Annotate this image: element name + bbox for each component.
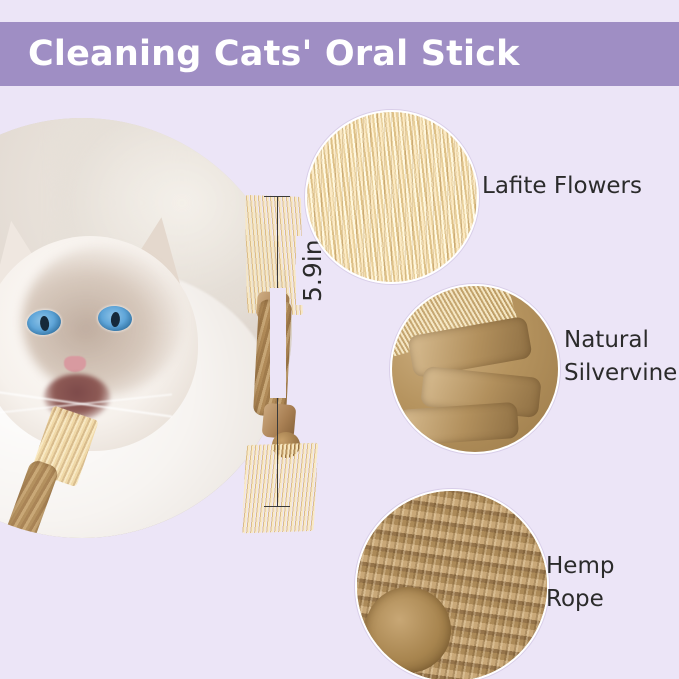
lafite-flowers-label: Lafite Flowers — [482, 170, 642, 203]
silvervine-piece-3 — [397, 402, 519, 446]
cat-nose — [64, 356, 86, 372]
silvervine-texture — [392, 286, 558, 452]
dimension-cap-bottom — [264, 506, 290, 507]
lafite-flowers-texture — [307, 112, 477, 282]
lafite-flowers-closeup — [305, 110, 479, 284]
hemp-rope-coil — [365, 587, 451, 673]
page-title: Cleaning Cats' Oral Stick — [0, 34, 520, 74]
cat-pupil-right — [110, 311, 120, 327]
natural-silvervine-closeup — [390, 284, 560, 454]
hemp-rope-closeup — [355, 489, 549, 679]
product-fringe-bottom — [242, 443, 319, 534]
hemp-rope-label: Hemp Rope — [546, 550, 679, 617]
dimension-cap-top — [264, 196, 290, 197]
title-banner: Cleaning Cats' Oral Stick — [0, 22, 679, 86]
dimension-line-gap — [270, 288, 286, 398]
natural-silvervine-label: Natural Silvervine — [564, 324, 677, 391]
product-infographic: Cleaning Cats' Oral Stick — [0, 0, 679, 679]
cat-pupil-left — [39, 315, 50, 331]
